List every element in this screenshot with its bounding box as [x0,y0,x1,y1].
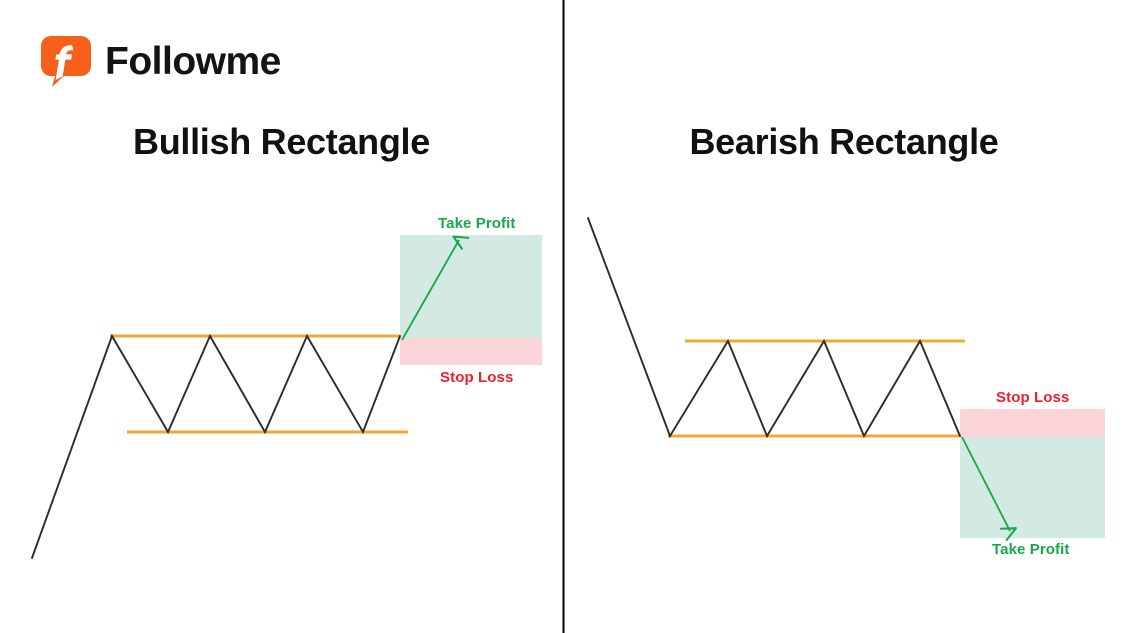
stop-loss-zone-bullish [400,338,542,365]
take-profit-zone-bullish [400,235,542,338]
take-profit-label-bearish: Take Profit [992,541,1070,558]
chart-bearish [588,218,1105,538]
diagram-canvas: Followme Bullish Rectangle Bearish Recta… [0,0,1125,633]
price-path-bearish [588,218,960,436]
take-profit-zone-bearish [960,437,1105,538]
stop-loss-label-bullish: Stop Loss [440,369,513,386]
chart-bullish [32,235,542,558]
take-profit-label-bullish: Take Profit [438,215,516,232]
price-path-bullish [32,336,400,558]
stop-loss-zone-bearish [960,409,1105,437]
stop-loss-label-bearish: Stop Loss [996,389,1069,406]
pattern-charts [0,0,1125,633]
